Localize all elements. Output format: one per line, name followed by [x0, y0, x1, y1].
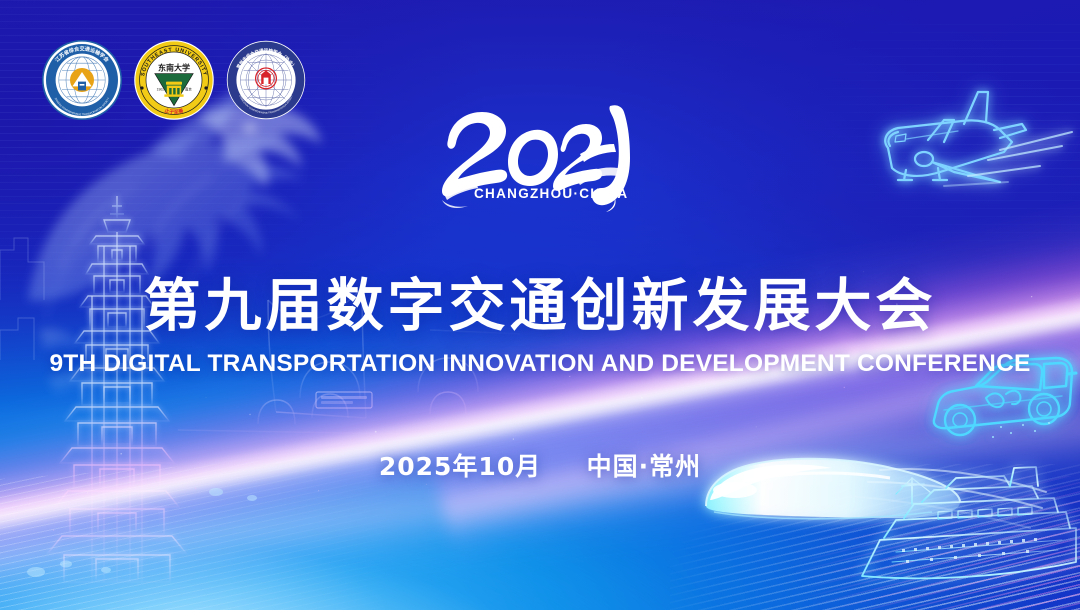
conference-poster: 江苏省综合交通运输学会 JIANGSU COMPREHENSIVE TRANSP…: [0, 0, 1080, 610]
airplane-icon: [885, 92, 1072, 186]
page-title-en: 9TH DIGITAL TRANSPORTATION INNOVATION AN…: [0, 350, 1080, 378]
page-title-cn: 第九届数字交通创新发展大会: [0, 278, 1080, 335]
event-meta: 2025年10月 中国·常州: [0, 447, 1080, 483]
svg-text:1902: 1902: [157, 87, 165, 91]
changzhou-comprehensive-transportation-society-logo: 常州市综合交通运输学会（协会） CHANGZHOU COMPREHENSIVE …: [226, 40, 306, 120]
svg-text:南京: 南京: [185, 86, 192, 91]
bokeh-dots: [27, 488, 257, 577]
svg-text:东南大学: 东南大学: [158, 62, 190, 72]
event-date: 2025年10月: [379, 452, 541, 481]
wordmark-subtitle: CHANGZHOU·CHINA: [474, 186, 624, 201]
jiangsu-comprehensive-transportation-society-logo: 江苏省综合交通运输学会 JIANGSU COMPREHENSIVE TRANSP…: [42, 40, 122, 120]
southeast-university-logo: 东南大学 1902 南京 SOUTHEAST UNIVERSITY 止于至善: [134, 40, 214, 120]
event-location: 中国·常州: [587, 452, 702, 481]
organizer-logos: 江苏省综合交通运输学会 JIANGSU COMPREHENSIVE TRANSP…: [42, 40, 306, 120]
